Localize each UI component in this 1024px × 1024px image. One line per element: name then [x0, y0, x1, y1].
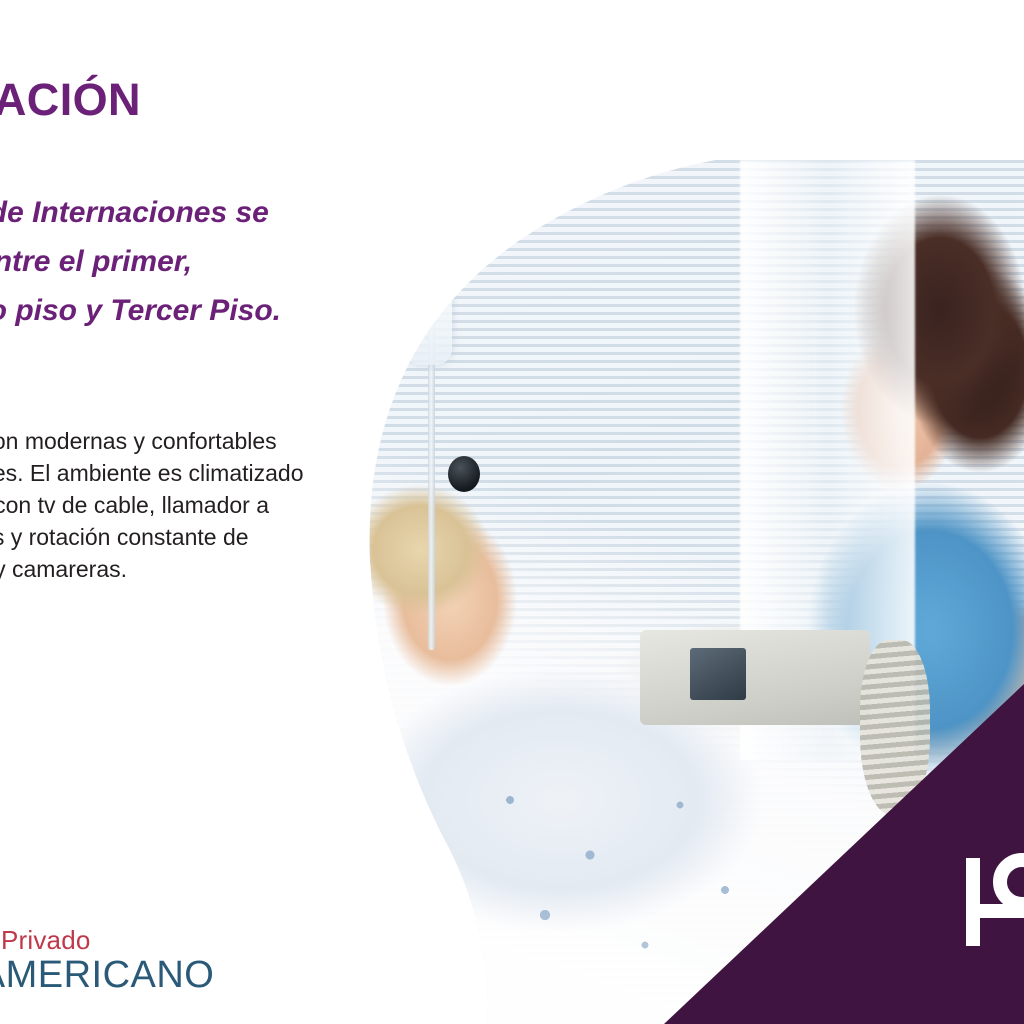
- brand-line-primary: Hospital Privado: [0, 926, 228, 954]
- monitor-screen-icon: [690, 648, 746, 700]
- page-title: INTERNACIÓN: [0, 74, 344, 126]
- patient-monitor-icon: [640, 630, 870, 725]
- wall-knob-icon: [448, 456, 480, 492]
- hospital-h-o-logomark-icon: [960, 852, 1024, 952]
- body-paragraph: Cuentan con modernas y confortables habi…: [0, 425, 318, 585]
- lead-paragraph: El área de Internaciones se divide entre…: [0, 188, 322, 335]
- iv-bag-icon: [404, 255, 452, 365]
- slide-canvas: INTERNACIÓN El área de Internaciones se …: [0, 0, 1024, 1024]
- brand-line-secondary: SUDAMERICANO: [0, 954, 228, 996]
- brand-lockup: Hospital Privado SUDAMERICANO: [0, 926, 228, 996]
- iv-pole-icon: [428, 230, 435, 650]
